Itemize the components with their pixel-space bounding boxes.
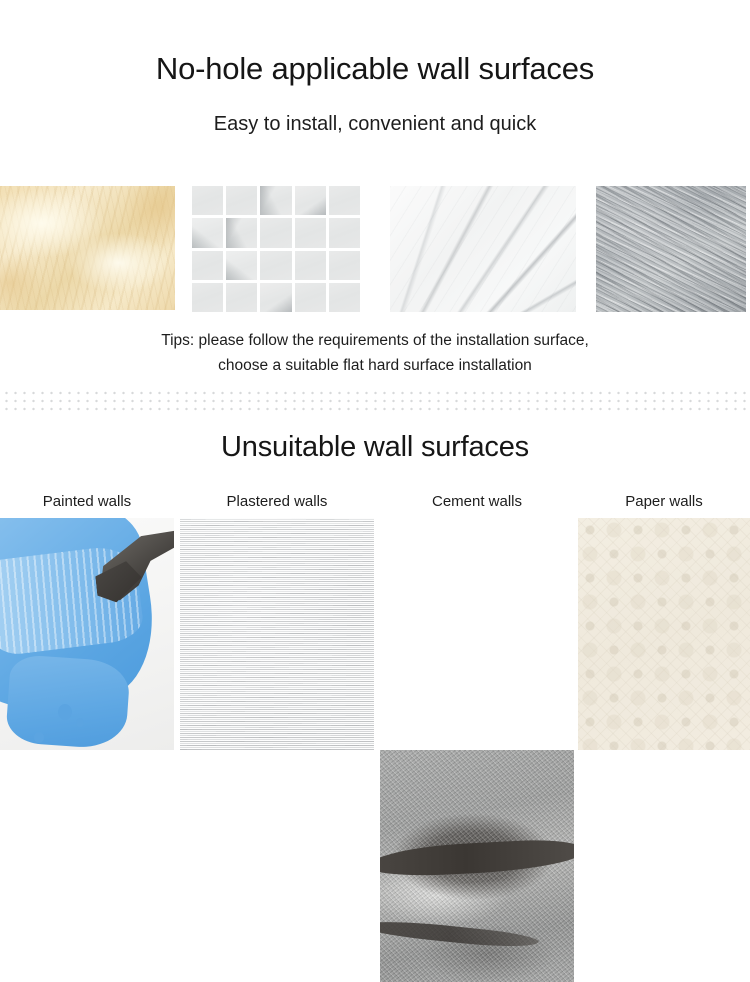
surface-swatch-beige-marble-tile	[0, 186, 175, 310]
section-title-unsuitable: Unsuitable wall surfaces	[0, 432, 750, 464]
unsuitable-surfaces-row	[0, 518, 750, 750]
mosaic-cell	[295, 283, 326, 312]
mosaic-cell	[192, 283, 223, 312]
wall-labels-row: Painted walls Plastered walls Cement wal…	[0, 492, 750, 514]
wall-photo-cement	[380, 750, 574, 982]
wall-label-paper: Paper walls	[578, 492, 750, 512]
dotted-divider	[0, 388, 750, 412]
wall-label-painted: Painted walls	[0, 492, 174, 512]
cement-crack	[380, 837, 574, 878]
mosaic-cell	[295, 186, 326, 215]
mosaic-cell	[192, 218, 223, 247]
page-title: No-hole applicable wall surfaces	[0, 52, 750, 86]
mosaic-cell	[329, 218, 360, 247]
product-infographic: No-hole applicable wall surfaces Easy to…	[0, 0, 750, 750]
surface-swatch-grey-slate-stone	[596, 186, 746, 312]
paint-drip	[76, 718, 84, 727]
mosaic-cell	[329, 251, 360, 280]
mosaic-cell	[192, 251, 223, 280]
mosaic-cell	[260, 186, 291, 215]
mosaic-cell	[226, 283, 257, 312]
wall-photo-painted	[0, 518, 174, 750]
mosaic-cell	[295, 218, 326, 247]
paint-spread	[5, 654, 131, 750]
page-subtitle: Easy to install, convenient and quick	[0, 113, 750, 135]
mosaic-cell	[329, 283, 360, 312]
surface-swatch-white-marble-slab	[390, 186, 576, 312]
mosaic-cell	[260, 218, 291, 247]
suitable-surfaces-row	[0, 186, 750, 312]
mosaic-cell	[226, 218, 257, 247]
mosaic-cell	[226, 186, 257, 215]
tips-line-1: Tips: please follow the requirements of …	[0, 328, 750, 353]
wall-photo-plastered	[180, 518, 374, 750]
mosaic-cell	[226, 251, 257, 280]
mosaic-cell	[295, 251, 326, 280]
tips-line-2: choose a suitable flat hard surface inst…	[0, 353, 750, 378]
mosaic-cell	[260, 283, 291, 312]
wall-photo-paper	[578, 518, 750, 750]
mosaic-cell	[192, 186, 223, 215]
wall-label-plastered: Plastered walls	[180, 492, 374, 512]
paint-drip	[34, 732, 44, 743]
mosaic-grid	[192, 186, 360, 312]
tips-text: Tips: please follow the requirements of …	[0, 328, 750, 378]
mosaic-cell	[329, 186, 360, 215]
mosaic-cell	[260, 251, 291, 280]
surface-swatch-white-mosaic-tile	[192, 186, 360, 312]
cement-crack-two	[380, 917, 539, 952]
paint-drip	[58, 704, 72, 720]
wall-label-cement: Cement walls	[380, 492, 574, 512]
